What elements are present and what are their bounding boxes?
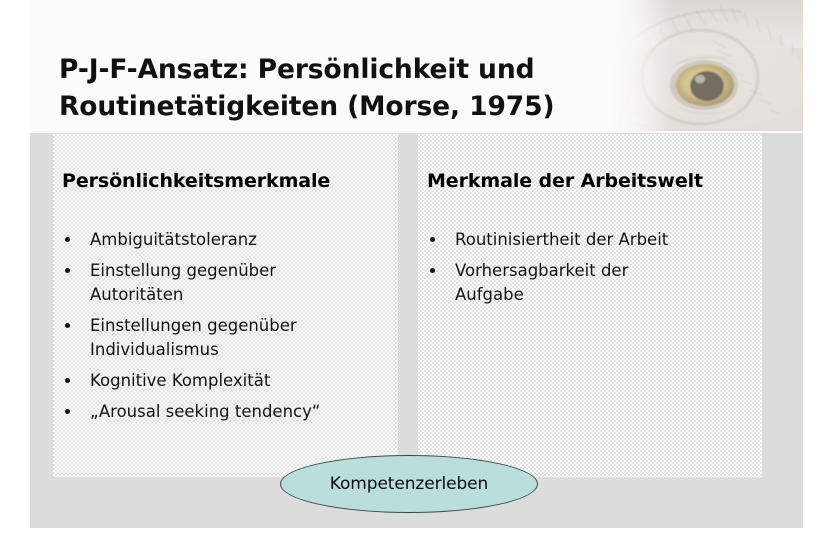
list-item-label: „Arousal seeking tendency“ (90, 400, 392, 424)
bullet-dot-icon (65, 323, 70, 328)
outcome-label: Kompetenzerleben (330, 474, 488, 494)
outcome-ellipse: Kompetenzerleben (280, 455, 538, 513)
column-heading-personality-traits: Persönlichkeitsmerkmale (62, 170, 330, 192)
list-item: Vorhersagbarkeit der Aufgabe (427, 259, 757, 307)
list-item: Kognitive Komplexität (62, 369, 392, 393)
list-item: Einstellung gegenüber Autoritäten (62, 259, 392, 307)
bullet-dot-icon (65, 409, 70, 414)
bullet-list-work-environment: Routinisiertheit der Arbeit Vorhersagbar… (427, 228, 757, 314)
list-item-label: Routinisiertheit der Arbeit (455, 228, 757, 252)
list-item-label: Vorhersagbarkeit der Aufgabe (455, 259, 757, 307)
column-heading-work-environment: Merkmale der Arbeitswelt (427, 170, 703, 192)
list-item: „Arousal seeking tendency“ (62, 400, 392, 424)
slide-canvas: P-J-F-Ansatz: Persönlichkeit und Routine… (0, 0, 834, 535)
list-item: Ambiguitätstoleranz (62, 228, 392, 252)
list-item-label: Kognitive Komplexität (90, 369, 392, 393)
list-item-label: Ambiguitätstoleranz (90, 228, 392, 252)
bullet-dot-icon (65, 268, 70, 273)
list-item: Routinisiertheit der Arbeit (427, 228, 757, 252)
owl-eye-image (612, 0, 803, 131)
list-item: Einstellungen gegenüber Individualismus (62, 314, 392, 362)
bullet-dot-icon (65, 378, 70, 383)
list-item-label: Einstellung gegenüber Autoritäten (90, 259, 392, 307)
bullet-dot-icon (430, 268, 435, 273)
bullet-list-personality-traits: Ambiguitätstoleranz Einstellung gegenübe… (62, 228, 392, 431)
bullet-dot-icon (65, 237, 70, 242)
owl-eye-icon (612, 0, 803, 131)
bullet-dot-icon (430, 237, 435, 242)
list-item-label: Einstellungen gegenüber Individualismus (90, 314, 392, 362)
page-title: P-J-F-Ansatz: Persönlichkeit und Routine… (59, 51, 604, 125)
